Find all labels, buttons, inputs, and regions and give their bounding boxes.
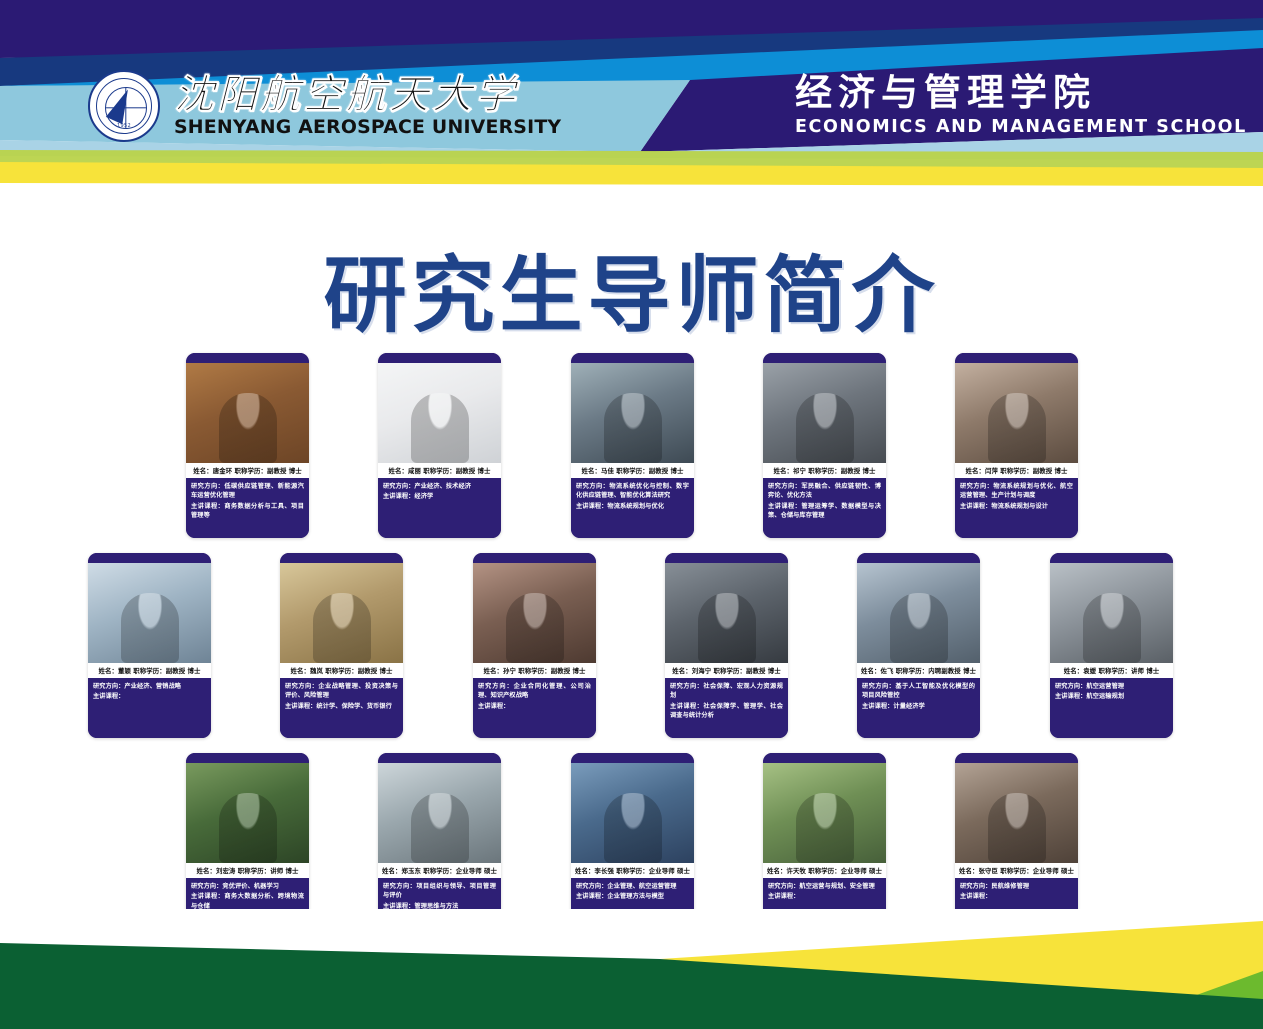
advisor-photo (955, 363, 1078, 463)
research-direction: 研究方向：军民融合、供应链韧性、博弈论、优化方法 (768, 482, 881, 501)
advisor-photo (378, 363, 501, 463)
advisor-name-strip: 姓名：刘海宁 职称学历：副教授 博士 (665, 663, 788, 678)
photo-subject-silhouette (698, 593, 756, 663)
portrait-bridge-outdoor-backdrop (857, 563, 980, 663)
photo-subject-silhouette (219, 793, 277, 863)
photo-subject-silhouette (121, 593, 179, 663)
card-top-accent-bar (955, 753, 1078, 763)
advisor-name-strip: 姓名：李长强 职称学历：企业导师 硕士 (571, 863, 694, 878)
research-direction: 研究方向：物流系统优化与控制、数字化供应链管理、智能优化算法研究 (576, 482, 689, 501)
card-top-accent-bar (378, 353, 501, 363)
taught-courses: 主讲课程： (478, 702, 591, 711)
footer-banner (0, 909, 1263, 1029)
research-direction: 研究方向：产业经济、技术经济 (383, 482, 496, 491)
research-direction: 研究方向：企业战略管理、投资决策与评价、风险管理 (285, 682, 398, 701)
advisor-details: 研究方向：低碳供应链管理、新能源汽车运营优化管理主讲课程：商务数据分析与工具、项… (186, 478, 309, 538)
research-direction: 研究方向：社会保障、宏观人力资源规划 (670, 682, 783, 701)
advisor-card[interactable]: 姓名：马佳 职称学历：副教授 博士研究方向：物流系统优化与控制、数字化供应链管理… (571, 353, 694, 538)
advisor-details: 研究方向：社会保障、宏观人力资源规划主讲课程：社会保障学、管理学、社会调查与统计… (665, 678, 788, 738)
advisor-details: 研究方向：物流系统规划与优化、航空运营管理、生产计划与调度主讲课程：物流系统规划… (955, 478, 1078, 538)
advisor-name-strip: 姓名：佐飞 职称学历：内聘副教授 博士 (857, 663, 980, 678)
portrait-white-studio-backdrop (378, 363, 501, 463)
card-top-accent-bar (88, 553, 211, 563)
advisor-details: 研究方向：物流系统优化与控制、数字化供应链管理、智能优化算法研究主讲课程：物流系… (571, 478, 694, 538)
portrait-dark-studio-backdrop (665, 563, 788, 663)
photo-subject-silhouette (796, 793, 854, 863)
card-top-accent-bar (280, 553, 403, 563)
advisor-card[interactable]: 姓名：刘海宁 职称学历：副教授 博士研究方向：社会保障、宏观人力资源规划主讲课程… (665, 553, 788, 738)
portrait-calligraphy-backdrop (955, 763, 1078, 863)
advisor-name-strip: 姓名：刘宏涛 职称学历：讲师 博士 (186, 863, 309, 878)
advisor-photo (571, 363, 694, 463)
advisor-photo (186, 763, 309, 863)
advisor-card[interactable]: 姓名：董颖 职称学历：副教授 博士研究方向：产业经济、营销战略主讲课程： (88, 553, 211, 738)
portrait-grey-studio-backdrop (763, 363, 886, 463)
advisor-name-strip: 姓名：许天牧 职称学历：企业导师 硕士 (763, 863, 886, 878)
research-direction: 研究方向：产业经济、营销战略 (93, 682, 206, 691)
advisor-details: 研究方向：产业经济、营销战略主讲课程： (88, 678, 211, 738)
research-direction: 研究方向：航空运营管理 (1055, 682, 1168, 691)
taught-courses: 主讲课程： (768, 892, 881, 901)
research-direction: 研究方向：民航维修管理 (960, 882, 1073, 891)
taught-courses: 主讲课程：计量经济学 (862, 702, 975, 711)
photo-subject-silhouette (988, 393, 1046, 463)
advisor-name-strip: 姓名：孙宁 职称学历：副教授 博士 (473, 663, 596, 678)
advisor-photo (186, 363, 309, 463)
photo-subject-silhouette (411, 393, 469, 463)
card-top-accent-bar (955, 353, 1078, 363)
advisor-name-strip: 姓名：马佳 职称学历：副教授 博士 (571, 463, 694, 478)
advisor-name-strip: 姓名：魏岚 职称学历：副教授 博士 (280, 663, 403, 678)
photo-subject-silhouette (604, 793, 662, 863)
portrait-forest-outdoor-backdrop (186, 763, 309, 863)
photo-subject-silhouette (506, 593, 564, 663)
advisor-details: 研究方向：产业经济、技术经济主讲课程：经济学 (378, 478, 501, 538)
advisor-name-strip: 姓名：张守臣 职称学历：企业导师 硕士 (955, 863, 1078, 878)
research-direction: 研究方向：基于人工智能及优化模型的项目风险管控 (862, 682, 975, 701)
photo-subject-silhouette (219, 393, 277, 463)
portrait-aircraft-hangar-backdrop (88, 563, 211, 663)
portrait-indoor-shelf-backdrop (955, 363, 1078, 463)
research-direction: 研究方向：项目组织与领导、项目管理与评价 (383, 882, 496, 901)
advisor-card[interactable]: 姓名：祁宁 职称学历：副教授 博士研究方向：军民融合、供应链韧性、博弈论、优化方… (763, 353, 886, 538)
advisor-name-strip: 姓名：董颖 职称学历：副教授 博士 (88, 663, 211, 678)
portrait-outdoor-park-backdrop (280, 563, 403, 663)
portrait-bookshelf-backdrop (571, 363, 694, 463)
portrait-bronze-relief-backdrop (186, 363, 309, 463)
card-top-accent-bar (378, 753, 501, 763)
advisor-photo (378, 763, 501, 863)
advisor-photo (473, 563, 596, 663)
card-top-accent-bar (186, 353, 309, 363)
taught-courses: 主讲课程：管理运筹学、数据模型与决策、仓储与库存管理 (768, 502, 881, 521)
research-direction: 研究方向：航空运营与规划、安全管理 (768, 882, 881, 891)
advisor-details: 研究方向：基于人工智能及优化模型的项目风险管控主讲课程：计量经济学 (857, 678, 980, 738)
card-top-accent-bar (1050, 553, 1173, 563)
research-direction: 研究方向：物流系统规划与优化、航空运营管理、生产计划与调度 (960, 482, 1073, 501)
taught-courses: 主讲课程：企业管理方法与模型 (576, 892, 689, 901)
poster-root: 1952 沈阳航空航天大学 SHENYANG AEROSPACE UNIVERS… (0, 0, 1263, 1029)
photo-subject-silhouette (796, 393, 854, 463)
card-top-accent-bar (571, 753, 694, 763)
advisor-details: 研究方向：企业合同化管理、公司治理、知识产权战略主讲课程： (473, 678, 596, 738)
footer-band-graphics (0, 909, 1263, 1029)
advisor-photo (571, 763, 694, 863)
portrait-podium-backdrop (571, 763, 694, 863)
advisor-card[interactable]: 姓名：唐金环 职称学历：副教授 博士研究方向：低碳供应链管理、新能源汽车运营优化… (186, 353, 309, 538)
taught-courses: 主讲课程： (960, 892, 1073, 901)
card-top-accent-bar (665, 553, 788, 563)
research-direction: 研究方向：低碳供应链管理、新能源汽车运营优化管理 (191, 482, 304, 501)
advisor-name-strip: 姓名：闫萍 职称学历：副教授 博士 (955, 463, 1078, 478)
advisor-photo (955, 763, 1078, 863)
advisor-card[interactable]: 姓名：佐飞 职称学历：内聘副教授 博士研究方向：基于人工智能及优化模型的项目风险… (857, 553, 980, 738)
photo-subject-silhouette (604, 393, 662, 463)
advisor-photo (88, 563, 211, 663)
taught-courses: 主讲课程：社会保障学、管理学、社会调查与统计分析 (670, 702, 783, 721)
advisor-name-strip: 姓名：郑玉东 职称学历：企业导师 硕士 (378, 863, 501, 878)
advisor-details: 研究方向：军民融合、供应链韧性、博弈论、优化方法主讲课程：管理运筹学、数据模型与… (763, 478, 886, 538)
card-top-accent-bar (186, 753, 309, 763)
card-top-accent-bar (473, 553, 596, 563)
portrait-indoor-warm-backdrop (473, 563, 596, 663)
advisor-photo (763, 763, 886, 863)
card-top-accent-bar (763, 353, 886, 363)
advisor-name-strip: 姓名：袁媛 职称学历：讲师 博士 (1050, 663, 1173, 678)
photo-subject-silhouette (313, 593, 371, 663)
research-direction: 研究方向：企业管理、航空运营管理 (576, 882, 689, 891)
card-top-accent-bar (571, 353, 694, 363)
photo-subject-silhouette (988, 793, 1046, 863)
advisor-name-strip: 姓名：祁宁 职称学历：副教授 博士 (763, 463, 886, 478)
photo-subject-silhouette (890, 593, 948, 663)
portrait-grey-studio-backdrop-2 (1050, 563, 1173, 663)
advisor-name-strip: 姓名：唐金环 职称学历：副教授 博士 (186, 463, 309, 478)
advisor-details: 研究方向：航空运营管理主讲课程：航空运输规划 (1050, 678, 1173, 738)
advisor-name-strip: 姓名：咸丽 职称学历：副教授 博士 (378, 463, 501, 478)
taught-courses: 主讲课程：物流系统规划与设计 (960, 502, 1073, 511)
advisor-card[interactable]: 姓名：袁媛 职称学历：讲师 博士研究方向：航空运营管理主讲课程：航空运输规划 (1050, 553, 1173, 738)
taught-courses: 主讲课程： (93, 692, 206, 701)
advisor-photo (1050, 563, 1173, 663)
taught-courses: 主讲课程：物流系统规划与优化 (576, 502, 689, 511)
advisor-photo (763, 363, 886, 463)
card-top-accent-bar (857, 553, 980, 563)
photo-subject-silhouette (411, 793, 469, 863)
advisor-card[interactable]: 姓名：魏岚 职称学历：副教授 博士研究方向：企业战略管理、投资决策与评价、风险管… (280, 553, 403, 738)
taught-courses: 主讲课程：经济学 (383, 492, 496, 501)
portrait-outdoor-garden-backdrop (763, 763, 886, 863)
advisor-photo (280, 563, 403, 663)
taught-courses: 主讲课程：商务数据分析与工具、项目管理等 (191, 502, 304, 521)
card-top-accent-bar (763, 753, 886, 763)
taught-courses: 主讲课程：统计学、保险学、货币银行 (285, 702, 398, 711)
advisor-card[interactable]: 姓名：孙宁 职称学历：副教授 博士研究方向：企业合同化管理、公司治理、知识产权战… (473, 553, 596, 738)
research-direction: 研究方向：企业合同化管理、公司治理、知识产权战略 (478, 682, 591, 701)
advisor-photo (665, 563, 788, 663)
photo-subject-silhouette (1083, 593, 1141, 663)
advisor-card[interactable]: 姓名：闫萍 职称学历：副教授 博士研究方向：物流系统规划与优化、航空运营管理、生… (955, 353, 1078, 538)
research-direction: 研究方向：竞优评价、机器学习 (191, 882, 304, 891)
advisor-card-grid: 姓名：唐金环 职称学历：副教授 博士研究方向：低碳供应链管理、新能源汽车运营优化… (0, 0, 1263, 1029)
taught-courses: 主讲课程：航空运输规划 (1055, 692, 1168, 701)
advisor-photo (857, 563, 980, 663)
advisor-card[interactable]: 姓名：咸丽 职称学历：副教授 博士研究方向：产业经济、技术经济主讲课程：经济学 (378, 353, 501, 538)
advisor-details: 研究方向：企业战略管理、投资决策与评价、风险管理主讲课程：统计学、保险学、货币银… (280, 678, 403, 738)
portrait-office-seated-backdrop (378, 763, 501, 863)
